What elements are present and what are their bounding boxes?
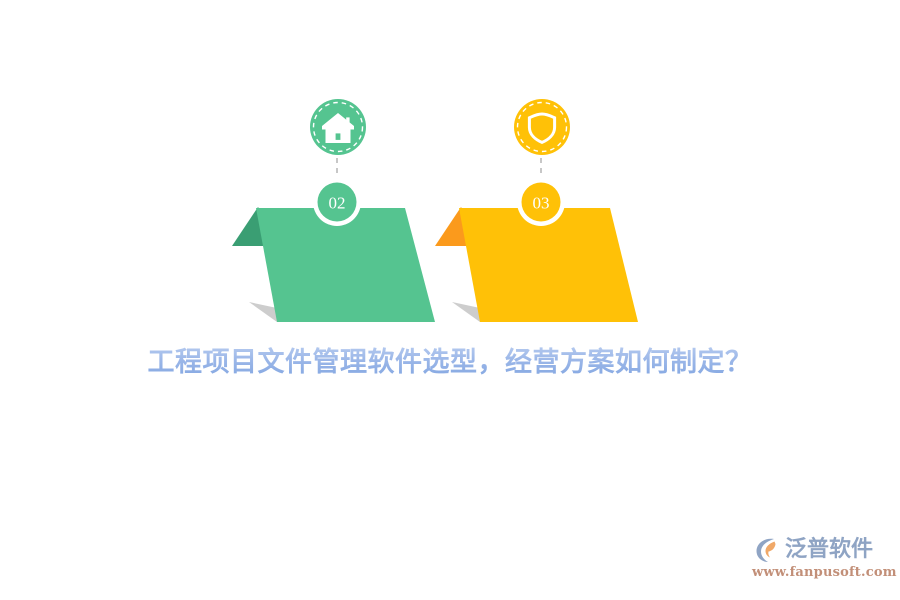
step-number-03: 03 — [533, 194, 550, 213]
watermark-url: www.fanpusoft.com — [752, 565, 886, 580]
watermark-brand: 泛普软件 — [785, 535, 873, 565]
page-title: 工程项目文件管理软件选型，经营方案如何制定？ — [0, 343, 900, 383]
step-diagram: 02 03 — [0, 0, 900, 340]
step-badge-02: 02 — [313, 178, 361, 226]
fanpu-logo-icon — [752, 535, 782, 565]
step-number-02: 02 — [329, 194, 346, 213]
card-body-02 — [256, 208, 435, 322]
card-body-03 — [459, 208, 638, 322]
infographic-canvas: 02 03 — [0, 0, 900, 600]
step-badge-03: 03 — [517, 178, 565, 226]
step-icon-circle-03 — [514, 99, 570, 155]
step-icon-circle-02 — [310, 99, 366, 155]
watermark: 泛普软件 www.fanpusoft.com — [752, 534, 886, 586]
